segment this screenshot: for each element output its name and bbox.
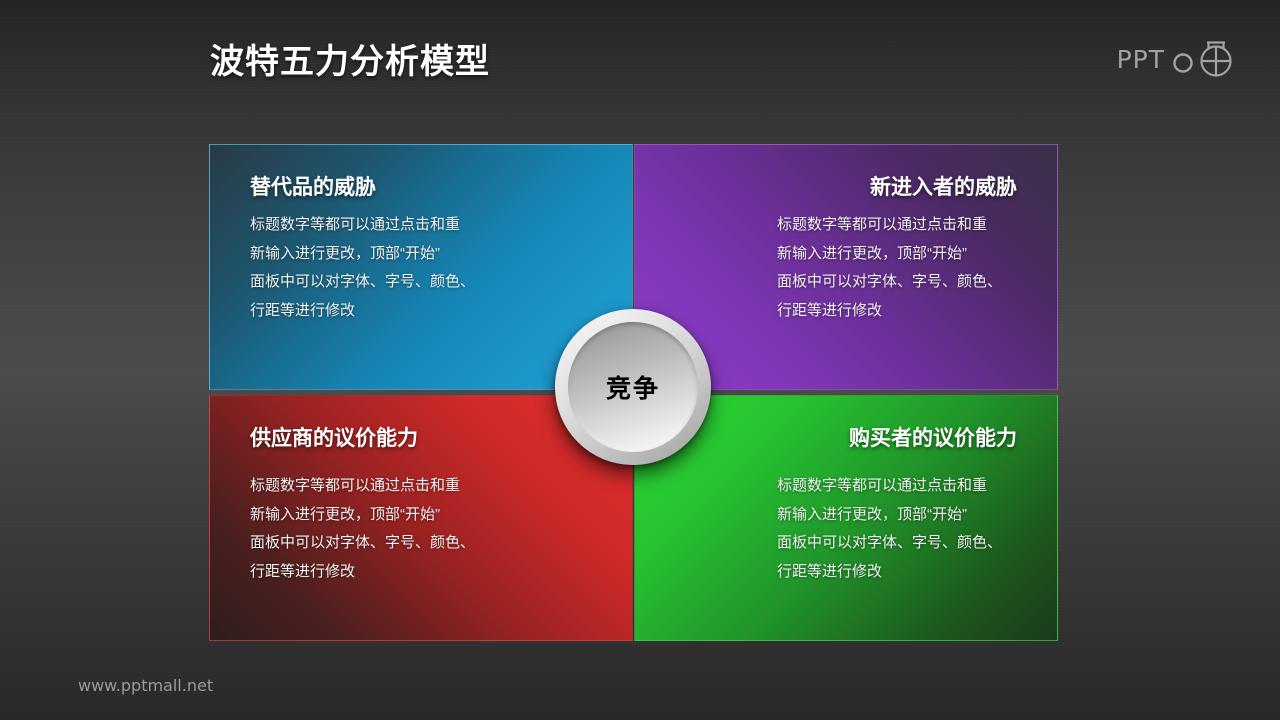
body-line: 面板中可以对字体、字号、颜色、 — [250, 529, 592, 558]
circle-crosshair-icon — [1172, 36, 1240, 83]
body-line: 标题数字等都可以通过点击和重 — [777, 211, 1017, 240]
quadrant-body: 标题数字等都可以通过点击和重 新输入进行更改，顶部“开始” 面板中可以对字体、字… — [777, 211, 1017, 325]
footer-url: www.pptmall.net — [78, 676, 213, 695]
quadrant-body: 标题数字等都可以通过点击和重 新输入进行更改，顶部“开始” 面板中可以对字体、字… — [250, 472, 592, 586]
body-line: 行距等进行修改 — [250, 558, 592, 587]
brand-logo: PPT — [1117, 36, 1240, 83]
slide-canvas: 波特五力分析模型 PPT 替代品的威胁 标题数字等都可以通过点击和重 新输入进行… — [0, 0, 1280, 720]
body-line: 新输入进行更改，顶部“开始” — [777, 501, 1017, 530]
body-line: 行距等进行修改 — [250, 297, 592, 326]
quadrant-title: 购买者的议价能力 — [675, 422, 1017, 452]
quadrant-title: 新进入者的威胁 — [675, 171, 1017, 201]
quadrant-body: 标题数字等都可以通过点击和重 新输入进行更改，顶部“开始” 面板中可以对字体、字… — [250, 211, 592, 325]
center-hub[interactable]: 竞争 — [555, 309, 711, 465]
body-line: 面板中可以对字体、字号、颜色、 — [777, 268, 1017, 297]
quadrant-bargaining-power-of-buyers[interactable]: 购买者的议价能力 标题数字等都可以通过点击和重 新输入进行更改，顶部“开始” 面… — [634, 395, 1058, 641]
body-line: 标题数字等都可以通过点击和重 — [250, 211, 592, 240]
body-line: 面板中可以对字体、字号、颜色、 — [250, 268, 592, 297]
body-line: 标题数字等都可以通过点击和重 — [777, 472, 1017, 501]
center-hub-inner: 竞争 — [568, 322, 698, 452]
quadrant-title: 替代品的威胁 — [250, 171, 592, 201]
body-line: 新输入进行更改，顶部“开始” — [250, 501, 592, 530]
page-title: 波特五力分析模型 — [210, 34, 490, 83]
body-line: 新输入进行更改，顶部“开始” — [250, 240, 592, 269]
body-line: 标题数字等都可以通过点击和重 — [250, 472, 592, 501]
body-line: 面板中可以对字体、字号、颜色、 — [777, 529, 1017, 558]
body-line: 行距等进行修改 — [777, 558, 1017, 587]
quadrant-title: 供应商的议价能力 — [250, 422, 592, 452]
center-hub-label: 竞争 — [606, 369, 660, 405]
quadrant-body: 标题数字等都可以通过点击和重 新输入进行更改，顶部“开始” 面板中可以对字体、字… — [777, 472, 1017, 586]
body-line: 新输入进行更改，顶部“开始” — [777, 240, 1017, 269]
logo-text: PPT — [1117, 47, 1165, 72]
body-line: 行距等进行修改 — [777, 297, 1017, 326]
